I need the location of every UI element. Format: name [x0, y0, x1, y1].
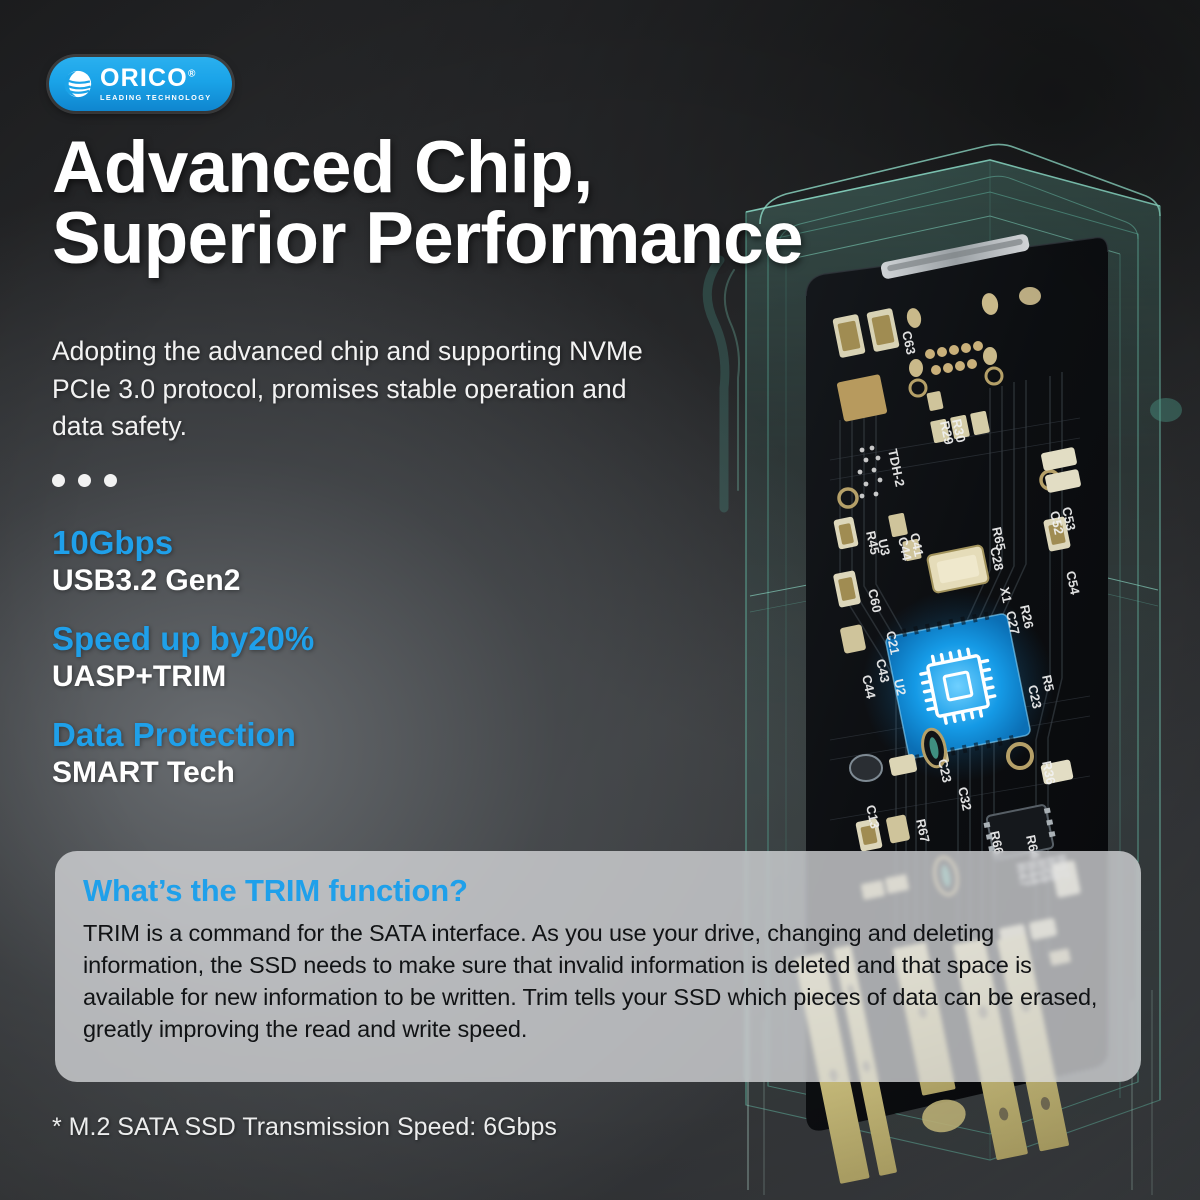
feature-list: 10Gbps USB3.2 Gen2 Speed up by20% UASP+T…: [52, 524, 482, 791]
registered-mark: ®: [188, 69, 197, 80]
footnote-text: * M.2 SATA SSD Transmission Speed: 6Gbps: [52, 1113, 557, 1142]
orico-logo[interactable]: ORICO® LEADING TECHNOLOGY: [49, 57, 232, 111]
feature-title: Speed up by20%: [52, 620, 482, 659]
dot-separator: [52, 474, 117, 487]
subtitle-text: Adopting the advanced chip and supportin…: [52, 333, 672, 446]
poster-canvas: C63 TDH-2 R30 R29 R45 C41 C44 R65 C28 C5…: [0, 0, 1200, 1200]
headline-line-2: Superior Performance: [52, 204, 872, 275]
feature-subtitle: USB3.2 Gen2: [52, 563, 482, 599]
dot-icon: [78, 474, 91, 487]
trim-card-body: TRIM is a command for the SATA interface…: [83, 918, 1115, 1046]
headline-line-1: Advanced Chip,: [52, 127, 592, 208]
feature-subtitle: UASP+TRIM: [52, 659, 482, 695]
feature-title: 10Gbps: [52, 524, 482, 563]
feature-item-smart: Data Protection SMART Tech: [52, 716, 482, 791]
feature-title: Data Protection: [52, 716, 482, 755]
trim-info-card: What’s the TRIM function? TRIM is a comm…: [55, 851, 1141, 1082]
globe-icon: [61, 67, 95, 101]
page-title: Advanced Chip, Superior Performance: [52, 133, 872, 275]
logo-tagline: LEADING TECHNOLOGY: [100, 94, 212, 101]
dot-icon: [104, 474, 117, 487]
logo-wordmark: ORICO®: [100, 66, 212, 91]
trim-card-title: What’s the TRIM function?: [83, 873, 1115, 909]
feature-item-speed: 10Gbps USB3.2 Gen2: [52, 524, 482, 599]
feature-subtitle: SMART Tech: [52, 755, 482, 791]
feature-item-uasp: Speed up by20% UASP+TRIM: [52, 620, 482, 695]
dot-icon: [52, 474, 65, 487]
